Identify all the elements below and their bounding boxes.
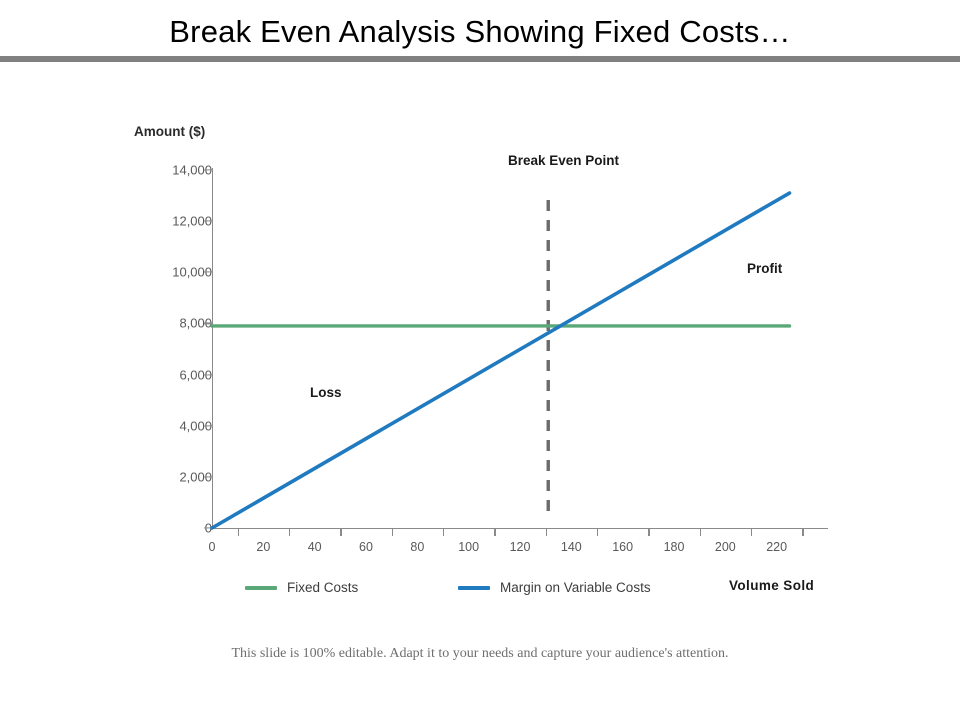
- legend-item-margin-on-variable-costs[interactable]: Margin on Variable Costs: [458, 580, 651, 595]
- legend-label-fixed-costs: Fixed Costs: [287, 580, 358, 595]
- legend-swatch-fixed-costs: [245, 586, 277, 590]
- page-title: Break Even Analysis Showing Fixed Costs…: [0, 14, 960, 50]
- annotation-profit: Profit: [747, 261, 782, 276]
- annotation-loss: Loss: [310, 385, 342, 400]
- series-line-margin-on-variable-costs: [212, 193, 790, 528]
- break-even-chart: Amount ($) 02,0004,0006,0008,00010,00012…: [0, 62, 960, 622]
- legend-swatch-margin-on-variable-costs: [458, 586, 490, 590]
- annotation-break-even-point: Break Even Point: [508, 153, 619, 168]
- legend-label-margin-on-variable-costs: Margin on Variable Costs: [500, 580, 651, 595]
- plot-lines: [0, 62, 960, 622]
- footer-note: This slide is 100% editable. Adapt it to…: [0, 646, 960, 662]
- legend-item-fixed-costs[interactable]: Fixed Costs: [245, 580, 358, 595]
- chart-legend: Fixed Costs Margin on Variable Costs: [0, 580, 960, 604]
